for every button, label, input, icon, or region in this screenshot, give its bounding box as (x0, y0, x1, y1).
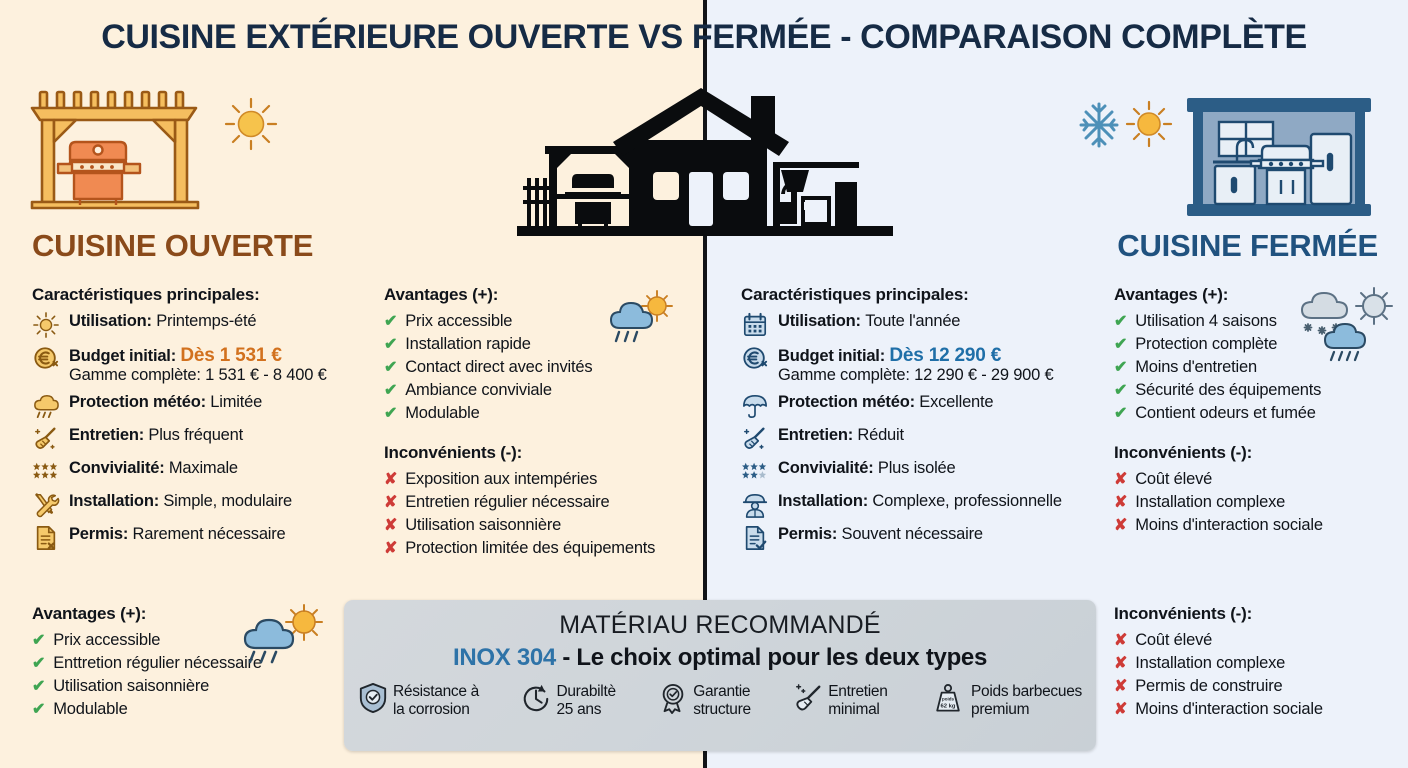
feature-text: Protection météo: Limitée (69, 393, 262, 412)
con-item: ✘Exposition aux intempéries (384, 470, 694, 489)
stars-icon (32, 459, 60, 485)
feature-value: Simple, modulaire (163, 492, 292, 510)
bullet-text: Prix accessible (53, 631, 160, 650)
shield-check-icon (358, 682, 388, 719)
feature-value: Plus isolée (878, 459, 956, 477)
feature-row: Installation: Complexe, professionnelle (741, 492, 1106, 518)
material-feature-line2: 25 ans (556, 701, 615, 718)
feature-label: Protection météo: (69, 393, 210, 411)
feature-label: Installation: (69, 492, 163, 510)
check-icon: ✔ (32, 656, 45, 672)
bullet-text: Utilisation saisonnière (405, 516, 561, 535)
check-icon: ✔ (384, 337, 397, 353)
material-recommendation-panel: MATÉRIAU RECOMMANDÉ INOX 304 - Le choix … (344, 600, 1096, 751)
feature-row: Protection météo: Limitée (32, 393, 372, 419)
pro-item: ✔Modulable (32, 700, 352, 719)
material-feature-line2: structure (693, 701, 751, 718)
cross-icon: ✘ (1114, 472, 1127, 488)
cross-icon: ✘ (1114, 495, 1127, 511)
bullet-text: Enttretion régulier nécessaire (53, 654, 262, 673)
stars-icon (741, 459, 769, 485)
feature-label: Protection météo: (778, 393, 919, 411)
check-icon: ✔ (1114, 360, 1127, 376)
closed-cons-bottom-heading: Inconvénients (-): (1114, 604, 1399, 624)
closed-cons-bottom-column: Inconvénients (-): ✘Coût élevé✘Installat… (1114, 604, 1399, 723)
con-item: ✘Utilisation saisonnière (384, 516, 694, 535)
bullet-text: Coût élevé (1135, 470, 1212, 489)
con-item: ✘Moins d'interaction sociale (1114, 516, 1399, 535)
check-icon: ✔ (32, 702, 45, 718)
clock-arrow-icon (521, 682, 551, 719)
material-feature-line1: Garantie (693, 683, 751, 700)
cross-icon: ✘ (1114, 518, 1127, 534)
check-icon: ✔ (1114, 406, 1127, 422)
bullet-text: Installation complexe (1135, 654, 1285, 673)
material-feature-line2: la corrosion (393, 701, 479, 718)
feature-label: Utilisation: (778, 312, 865, 330)
feature-label: Entretien: (69, 426, 148, 444)
bullet-text: Exposition aux intempéries (405, 470, 597, 489)
sun-icon (32, 312, 60, 338)
bullet-text: Coût élevé (1135, 631, 1212, 650)
closed-cons-heading: Inconvénients (-): (1114, 443, 1399, 463)
closed-features-heading: Caractéristiques principales: (741, 285, 1106, 305)
material-feature-text: Résistance àla corrosion (393, 683, 479, 718)
bullet-text: Entretien régulier nécessaire (405, 493, 609, 512)
bullet-text: Prix accessible (405, 312, 512, 331)
bullet-text: Sécurité des équipements (1135, 381, 1321, 400)
feature-text: Utilisation: Printemps-été (69, 312, 256, 331)
con-item: ✘Installation complexe (1114, 654, 1399, 673)
material-heading: MATÉRIAU RECOMMANDÉ (344, 611, 1096, 640)
feature-text: Entretien: Réduit (778, 426, 904, 445)
feature-subvalue: Gamme complète: 1 531 € - 8 400 € (69, 366, 327, 385)
material-feature-text: Durabiltè25 ans (556, 683, 615, 718)
feature-value: Souvent nécessaire (842, 525, 983, 543)
cross-icon: ✘ (384, 518, 397, 534)
bullet-text: Permis de construire (1135, 677, 1282, 696)
check-icon: ✔ (32, 633, 45, 649)
bullet-text: Ambiance conviviale (405, 381, 552, 400)
award-ribbon-icon (658, 682, 688, 719)
bullet-text: Utilisation 4 saisons (1135, 312, 1277, 331)
material-feature: Résistance àla corrosion (358, 682, 479, 719)
material-feature: Entretienminimal (793, 682, 887, 719)
feature-label: Utilisation: (69, 312, 156, 330)
feature-value: Plus fréquent (148, 426, 243, 444)
svg-text:poids: poids (942, 697, 954, 702)
con-item: ✘Permis de construire (1114, 677, 1399, 696)
bullet-text: Moins d'interaction sociale (1135, 700, 1323, 719)
cross-icon: ✘ (1114, 702, 1127, 718)
feature-text: Installation: Simple, modulaire (69, 492, 292, 511)
closed-kitchen-icon (1183, 92, 1375, 222)
weight-icon: poids62 kg (930, 682, 966, 719)
page-title: CUISINE EXTÉRIEURE OUVERTE VS FERMÉE - C… (0, 18, 1408, 57)
pro-item: ✔Modulable (384, 404, 694, 423)
feature-text: Convivialité: Plus isolée (778, 459, 955, 478)
material-feature: Garantiestructure (658, 682, 751, 719)
paintbrush-icon (793, 682, 823, 719)
calendar-icon (741, 312, 769, 338)
check-icon: ✔ (32, 679, 45, 695)
feature-row: Convivialité: Plus isolée (741, 459, 1106, 485)
bullet-text: Protection limitée des équipements (405, 539, 655, 558)
material-feature-text: Poids barbecuespremium (971, 683, 1082, 718)
feature-text: Permis: Rarement nécessaire (69, 525, 286, 544)
feature-value: Maximale (169, 459, 238, 477)
left-kitchen-label: CUISINE OUVERTE (32, 228, 313, 264)
open-features-column: Caractéristiques principales: Utilisatio… (32, 285, 372, 558)
material-tagline: INOX 304 - Le choix optimal pour les deu… (344, 644, 1096, 672)
bullet-text: Modulable (53, 700, 127, 719)
pro-item: ✔Sécurité des équipements (1114, 381, 1399, 400)
broom-icon (32, 426, 60, 452)
feature-row: Entretien: Plus fréquent (32, 426, 372, 452)
feature-value: Dès 12 290 € (889, 345, 1001, 366)
bullet-text: Modulable (405, 404, 479, 423)
feature-value: Rarement nécessaire (133, 525, 286, 543)
broom-icon (741, 426, 769, 452)
right-kitchen-label: CUISINE FERMÉE (1117, 228, 1378, 264)
feature-row: Budget initial: Dès 1 531 €Gamme complèt… (32, 345, 372, 386)
check-icon: ✔ (384, 314, 397, 330)
snow-cloud-sun-rain-icon (1296, 286, 1402, 370)
con-item: ✘Protection limitée des équipements (384, 539, 694, 558)
open-cons-heading: Inconvénients (-): (384, 443, 694, 463)
check-icon: ✔ (384, 360, 397, 376)
infographic-root: CUISINE EXTÉRIEURE OUVERTE VS FERMÉE - C… (0, 0, 1408, 768)
con-item: ✘Coût élevé (1114, 470, 1399, 489)
feature-text: Entretien: Plus fréquent (69, 426, 243, 445)
rain-cloud-icon (32, 393, 60, 419)
pro-item: ✔Contient odeurs et fumée (1114, 404, 1399, 423)
feature-label: Permis: (778, 525, 842, 543)
feature-label: Budget initial: (69, 347, 180, 365)
material-feature-line1: Poids barbecues (971, 683, 1082, 700)
feature-label: Installation: (778, 492, 872, 510)
con-item: ✘Coût élevé (1114, 631, 1399, 650)
feature-row: Protection météo: Excellente (741, 393, 1106, 419)
cross-icon: ✘ (1114, 679, 1127, 695)
feature-row: Permis: Rarement nécessaire (32, 525, 372, 551)
bullet-text: Contient odeurs et fumée (1135, 404, 1315, 423)
cross-icon: ✘ (384, 541, 397, 557)
document-x-icon (32, 525, 60, 551)
svg-text:62 kg: 62 kg (941, 703, 956, 709)
material-feature-line1: Entretien (828, 683, 887, 700)
cross-icon: ✘ (1114, 633, 1127, 649)
cross-icon: ✘ (1114, 656, 1127, 672)
material-features-row: Résistance àla corrosionDurabiltè25 ansG… (344, 672, 1096, 719)
feature-label: Convivialité: (778, 459, 878, 477)
umbrella-icon (741, 393, 769, 419)
check-icon: ✔ (384, 406, 397, 422)
material-feature-line2: minimal (828, 701, 887, 718)
con-item: ✘Moins d'interaction sociale (1114, 700, 1399, 719)
feature-row: Convivialité: Maximale (32, 459, 372, 485)
feature-row: Utilisation: Printemps-été (32, 312, 372, 338)
cross-icon: ✘ (384, 472, 397, 488)
feature-row: Budget initial: Dès 12 290 €Gamme complè… (741, 345, 1106, 386)
con-item: ✘Installation complexe (1114, 493, 1399, 512)
feature-text: Protection météo: Excellente (778, 393, 993, 412)
feature-text: Budget initial: Dès 12 290 €Gamme complè… (778, 345, 1054, 386)
document-check-icon (741, 525, 769, 551)
feature-subvalue: Gamme complète: 12 290 € - 29 900 € (778, 366, 1054, 385)
bullet-text: Utilisation saisonnière (53, 677, 209, 696)
feature-value: Limitée (210, 393, 262, 411)
material-feature: poids62 kgPoids barbecuespremium (930, 682, 1082, 719)
euro-coin-icon (741, 345, 769, 371)
bullet-text: Moins d'entretien (1135, 358, 1257, 377)
feature-label: Convivialité: (69, 459, 169, 477)
rain-cloud-sun-icon (606, 290, 676, 348)
feature-text: Convivialité: Maximale (69, 459, 238, 478)
worker-icon (741, 492, 769, 518)
feature-value: Toute l'année (865, 312, 960, 330)
feature-text: Utilisation: Toute l'année (778, 312, 960, 331)
feature-value: Excellente (919, 393, 993, 411)
check-icon: ✔ (384, 383, 397, 399)
feature-value: Dès 1 531 € (180, 345, 281, 366)
material-tagline-text: - Le choix optimal pour les deux types (556, 644, 987, 671)
material-feature-line1: Durabiltè (556, 683, 615, 700)
feature-label: Budget initial: (778, 347, 889, 365)
pro-item: ✔Utilisation saisonnière (32, 677, 352, 696)
feature-value: Réduit (857, 426, 904, 444)
feature-value: Printemps-été (156, 312, 256, 330)
feature-row: Entretien: Réduit (741, 426, 1106, 452)
tools-icon (32, 492, 60, 518)
rain-cloud-sun-icon-secondary (240, 604, 328, 666)
bullet-text: Installation complexe (1135, 493, 1285, 512)
material-feature-text: Garantiestructure (693, 683, 751, 718)
snowflake-sun-icon (1077, 98, 1177, 154)
check-icon: ✔ (1114, 337, 1127, 353)
bullet-text: Moins d'interaction sociale (1135, 516, 1323, 535)
closed-features-column: Caractéristiques principales: Utilisatio… (741, 285, 1106, 558)
bullet-text: Installation rapide (405, 335, 531, 354)
cross-icon: ✘ (384, 495, 397, 511)
feature-row: Installation: Simple, modulaire (32, 492, 372, 518)
material-feature-text: Entretienminimal (828, 683, 887, 718)
feature-row: Permis: Souvent nécessaire (741, 525, 1106, 551)
house-outdoor-kitchen-illustration (505, 82, 905, 250)
check-icon: ✔ (1114, 314, 1127, 330)
pergola-grill-icon (28, 86, 208, 216)
feature-text: Installation: Complexe, professionnelle (778, 492, 1062, 511)
con-item: ✘Entretien régulier nécessaire (384, 493, 694, 512)
feature-text: Permis: Souvent nécessaire (778, 525, 983, 544)
feature-label: Entretien: (778, 426, 857, 444)
material-feature-line1: Résistance à (393, 683, 479, 700)
pro-item: ✔Ambiance conviviale (384, 381, 694, 400)
open-features-heading: Caractéristiques principales: (32, 285, 372, 305)
material-grade: INOX 304 (453, 644, 556, 671)
pro-item: ✔Contact direct avec invités (384, 358, 694, 377)
feature-value: Complexe, professionnelle (872, 492, 1061, 510)
feature-row: Utilisation: Toute l'année (741, 312, 1106, 338)
feature-label: Permis: (69, 525, 133, 543)
bullet-text: Contact direct avec invités (405, 358, 592, 377)
feature-text: Budget initial: Dès 1 531 €Gamme complèt… (69, 345, 327, 386)
sun-icon (222, 95, 280, 153)
euro-coin-icon (32, 345, 60, 371)
check-icon: ✔ (1114, 383, 1127, 399)
bullet-text: Protection complète (1135, 335, 1277, 354)
material-feature: Durabiltè25 ans (521, 682, 615, 719)
material-feature-line2: premium (971, 701, 1082, 718)
